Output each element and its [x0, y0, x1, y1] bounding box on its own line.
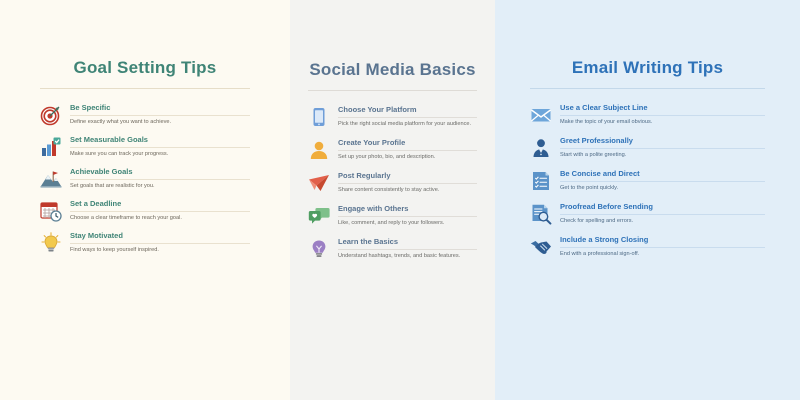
- list-item[interactable]: Set a Deadline Choose a clear timeframe …: [40, 199, 250, 222]
- bar-chart-check-icon: [40, 136, 62, 158]
- item-body: Proofread Before Sending Check for spell…: [560, 202, 765, 225]
- item-title: Set a Deadline: [70, 200, 250, 212]
- item-title: Be Concise and Direct: [560, 170, 765, 182]
- panel-email-writing: Email Writing Tips Use a Clear Subject L…: [495, 0, 800, 400]
- list-item[interactable]: Include a Strong Closing End with a prof…: [530, 235, 765, 258]
- list-item[interactable]: Use a Clear Subject Line Make the topic …: [530, 103, 765, 126]
- item-body: Choose Your Platform Pick the right soci…: [338, 105, 477, 128]
- list-item[interactable]: Proofread Before Sending Check for spell…: [530, 202, 765, 225]
- calendar-clock-icon: [40, 200, 62, 222]
- title-divider: [530, 88, 765, 89]
- panel-title-social-media: Social Media Basics: [308, 60, 477, 80]
- item-body: Set a Deadline Choose a clear timeframe …: [70, 199, 250, 222]
- list-item[interactable]: Stay Motivated Find ways to keep yoursel…: [40, 231, 250, 254]
- tips-board: Goal Setting Tips Be Specific Define exa…: [0, 0, 800, 400]
- item-description: Define exactly what you want to achieve.: [70, 119, 250, 125]
- item-title: Learn the Basics: [338, 238, 477, 250]
- item-description: Get to the point quickly.: [560, 185, 765, 191]
- item-body: Post Regularly Share content consistentl…: [338, 171, 477, 194]
- handshake-icon: [530, 236, 552, 258]
- paper-plane-icon: [308, 172, 330, 194]
- list-item[interactable]: Achievable Goals Set goals that are real…: [40, 167, 250, 190]
- title-divider: [40, 88, 250, 89]
- tip-list-email-writing: Use a Clear Subject Line Make the topic …: [530, 103, 765, 268]
- list-item[interactable]: Be Concise and Direct Get to the point q…: [530, 169, 765, 192]
- item-title: Be Specific: [70, 104, 250, 116]
- panel-title-email-writing: Email Writing Tips: [530, 58, 765, 78]
- panel-social-media: Social Media Basics Choose Your Platform…: [290, 0, 495, 400]
- user-avatar-icon: [308, 139, 330, 161]
- item-description: Set up your photo, bio, and description.: [338, 154, 477, 160]
- item-body: Engage with Others Like, comment, and re…: [338, 204, 477, 227]
- list-item[interactable]: Be Specific Define exactly what you want…: [40, 103, 250, 126]
- list-item[interactable]: Create Your Profile Set up your photo, b…: [308, 138, 477, 161]
- list-item[interactable]: Set Measurable Goals Make sure you can t…: [40, 135, 250, 158]
- item-body: Use a Clear Subject Line Make the topic …: [560, 103, 765, 126]
- checklist-document-icon: [530, 170, 552, 192]
- envelope-icon: [530, 104, 552, 126]
- item-body: Include a Strong Closing End with a prof…: [560, 235, 765, 258]
- item-description: Choose a clear timeframe to reach your g…: [70, 215, 250, 221]
- item-description: Make sure you can track your progress.: [70, 151, 250, 157]
- list-item[interactable]: Learn the Basics Understand hashtags, tr…: [308, 237, 477, 260]
- list-item[interactable]: Greet Professionally Start with a polite…: [530, 136, 765, 159]
- smartphone-icon: [308, 106, 330, 128]
- item-body: Learn the Basics Understand hashtags, tr…: [338, 237, 477, 260]
- list-item[interactable]: Choose Your Platform Pick the right soci…: [308, 105, 477, 128]
- item-title: Greet Professionally: [560, 137, 765, 149]
- tip-list-social-media: Choose Your Platform Pick the right soci…: [308, 105, 477, 270]
- item-description: Share content consistently to stay activ…: [338, 187, 477, 193]
- lightbulb-purple-icon: [308, 238, 330, 260]
- item-description: Check for spelling and errors.: [560, 218, 765, 224]
- item-body: Set Measurable Goals Make sure you can t…: [70, 135, 250, 158]
- panel-title-goal-setting: Goal Setting Tips: [40, 58, 250, 78]
- item-description: Pick the right social media platform for…: [338, 121, 477, 127]
- item-title: Post Regularly: [338, 172, 477, 184]
- item-description: End with a professional sign-off.: [560, 251, 765, 257]
- item-body: Greet Professionally Start with a polite…: [560, 136, 765, 159]
- item-description: Make the topic of your email obvious.: [560, 119, 765, 125]
- title-divider: [308, 90, 477, 91]
- item-description: Understand hashtags, trends, and basic f…: [338, 253, 477, 259]
- item-title: Engage with Others: [338, 205, 477, 217]
- mountain-flag-icon: [40, 168, 62, 190]
- document-magnifier-icon: [530, 203, 552, 225]
- target-icon: [40, 104, 62, 126]
- item-title: Choose Your Platform: [338, 106, 477, 118]
- item-title: Use a Clear Subject Line: [560, 104, 765, 116]
- item-title: Set Measurable Goals: [70, 136, 250, 148]
- lightbulb-icon: [40, 232, 62, 254]
- item-description: Find ways to keep yourself inspired.: [70, 247, 250, 253]
- item-body: Be Concise and Direct Get to the point q…: [560, 169, 765, 192]
- list-item[interactable]: Post Regularly Share content consistentl…: [308, 171, 477, 194]
- panel-goal-setting: Goal Setting Tips Be Specific Define exa…: [0, 0, 290, 400]
- item-title: Stay Motivated: [70, 232, 250, 244]
- item-body: Be Specific Define exactly what you want…: [70, 103, 250, 126]
- item-description: Set goals that are realistic for you.: [70, 183, 250, 189]
- list-item[interactable]: Engage with Others Like, comment, and re…: [308, 204, 477, 227]
- item-title: Create Your Profile: [338, 139, 477, 151]
- businessperson-icon: [530, 137, 552, 159]
- item-title: Proofread Before Sending: [560, 203, 765, 215]
- chat-heart-icon: [308, 205, 330, 227]
- item-title: Achievable Goals: [70, 168, 250, 180]
- item-body: Achievable Goals Set goals that are real…: [70, 167, 250, 190]
- item-body: Create Your Profile Set up your photo, b…: [338, 138, 477, 161]
- item-description: Start with a polite greeting.: [560, 152, 765, 158]
- item-title: Include a Strong Closing: [560, 236, 765, 248]
- item-description: Like, comment, and reply to your followe…: [338, 220, 477, 226]
- item-body: Stay Motivated Find ways to keep yoursel…: [70, 231, 250, 254]
- tip-list-goal-setting: Be Specific Define exactly what you want…: [40, 103, 250, 263]
